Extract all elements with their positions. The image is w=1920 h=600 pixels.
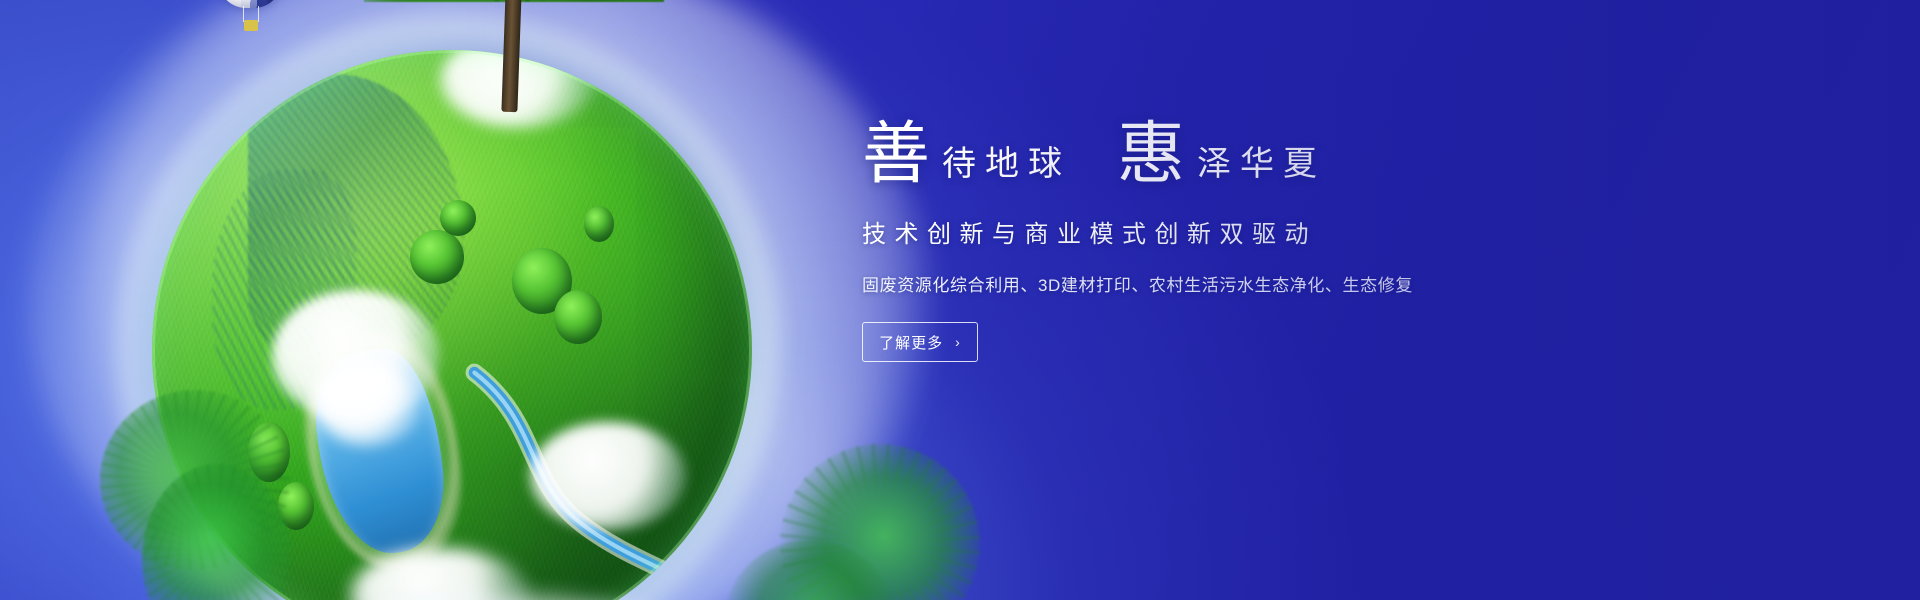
- headline-char-primary-1: 善: [862, 120, 932, 188]
- learn-more-label: 了解更多: [879, 332, 943, 353]
- learn-more-button[interactable]: 了解更多 ›: [862, 322, 978, 362]
- large-tree: [364, 0, 664, 112]
- headline-char-primary-2: 惠: [1117, 120, 1187, 188]
- hot-air-balloon: [218, 0, 282, 34]
- banner-content: 善 待地球 惠 泽华夏 技术创新与商业模式创新双驱动 固废资源化综合利用、3D建…: [862, 120, 1622, 362]
- headline: 善 待地球 惠 泽华夏: [862, 120, 1622, 188]
- balloon-basket: [244, 20, 258, 31]
- headline-text-2: 泽华夏: [1197, 148, 1326, 188]
- banner-description: 固废资源化综合利用、3D建材打印、农村生活污水生态净化、生态修复: [862, 271, 1622, 296]
- tree-trunk: [501, 0, 522, 112]
- headline-text-1: 待地球: [942, 148, 1071, 188]
- hero-banner: 善 待地球 惠 泽华夏 技术创新与商业模式创新双驱动 固废资源化综合利用、3D建…: [0, 0, 1920, 600]
- chevron-right-icon: ›: [955, 335, 961, 349]
- banner-subtitle: 技术创新与商业模式创新双驱动: [862, 214, 1622, 249]
- tiny-planet-illustration: [0, 0, 1010, 600]
